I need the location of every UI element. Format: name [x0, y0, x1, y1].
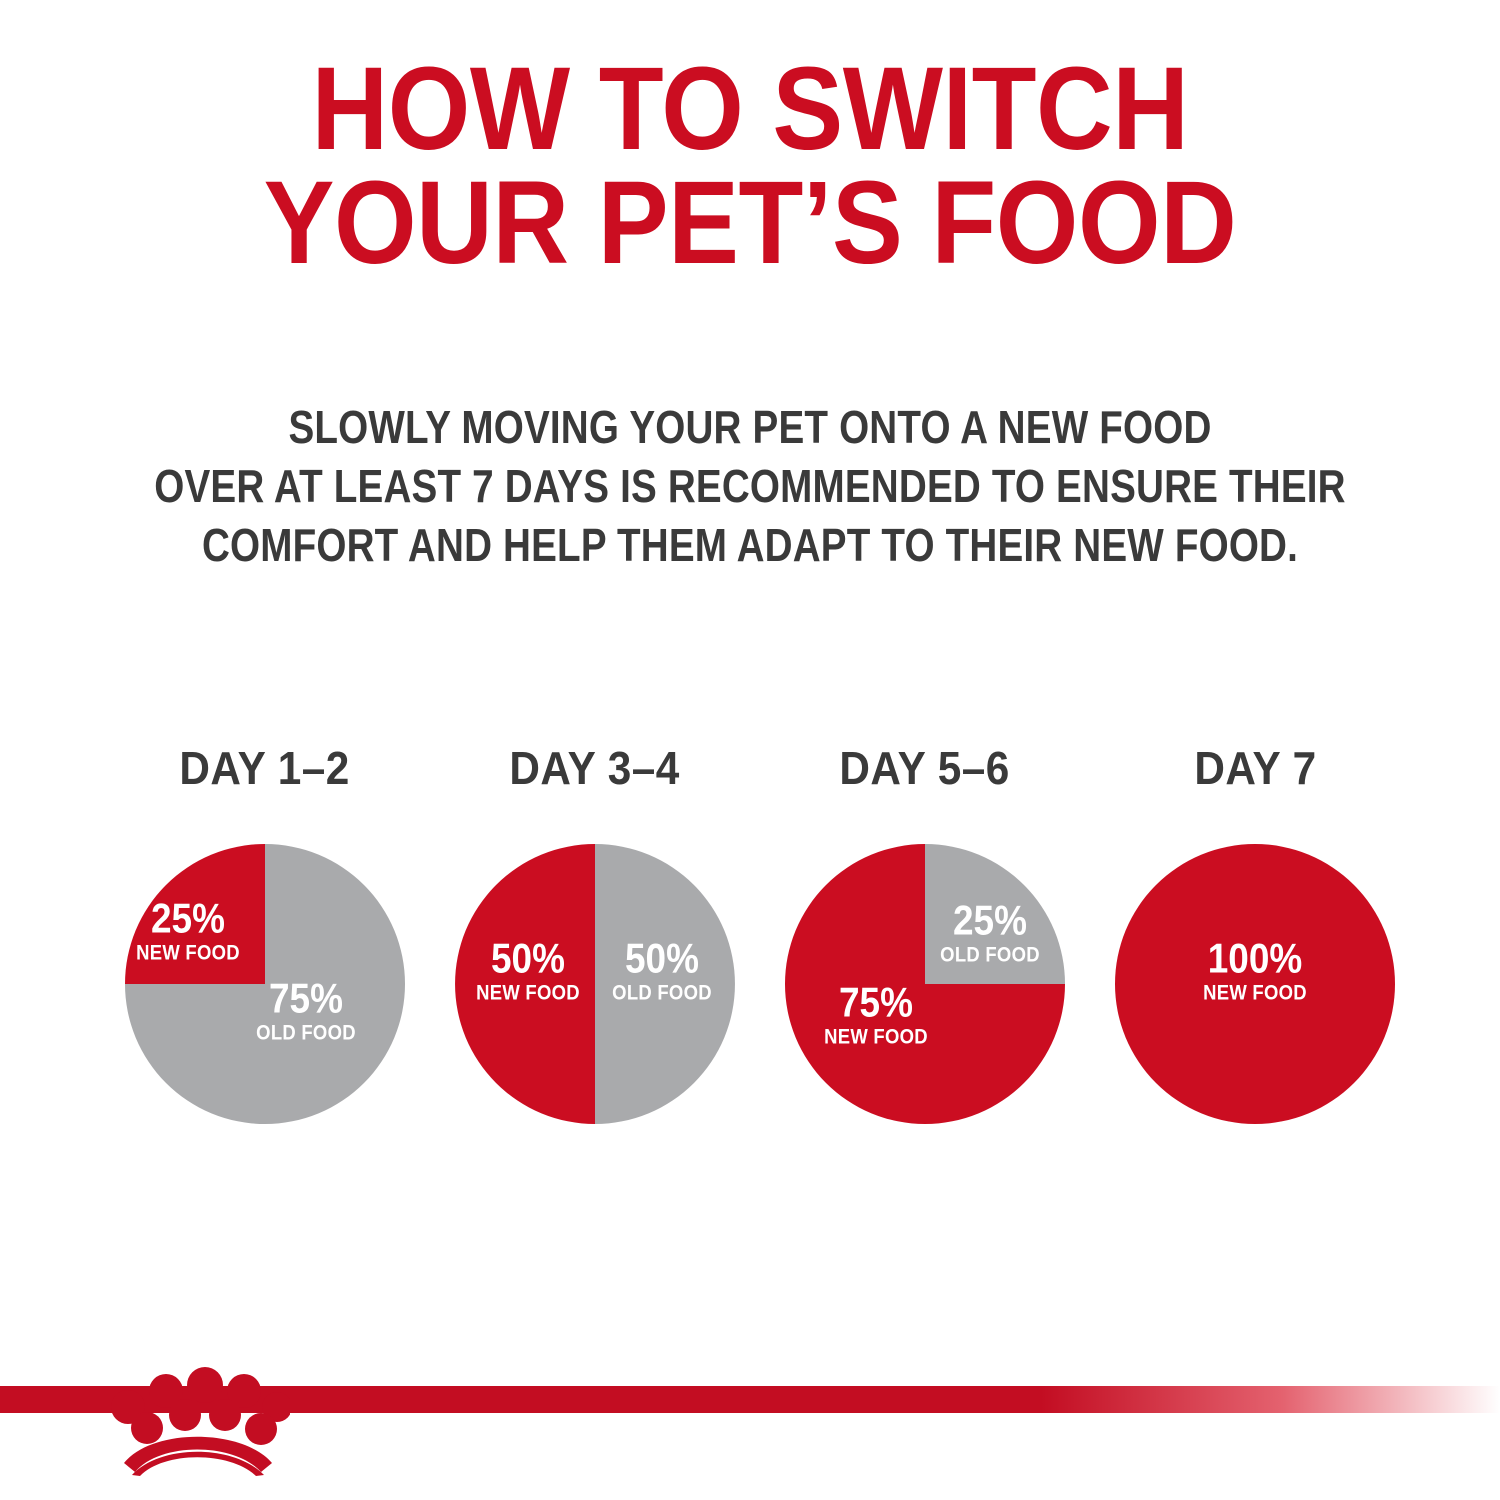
infographic-page: HOW TO SWITCH YOUR PET’S FOOD SLOWLY MOV… [0, 0, 1500, 1500]
title-line-2: YOUR PET’S FOOD [75, 166, 1425, 280]
page-subtitle: SLOWLY MOVING YOUR PET ONTO A NEW FOOD O… [0, 398, 1500, 575]
pie-chart-day-3-4: DAY 3–450%NEW FOOD50%OLD FOOD [440, 745, 750, 1125]
red-rule-right-icon [292, 1386, 1500, 1413]
subtitle-line-3: COMFORT AND HELP THEM ADAPT TO THEIR NEW… [120, 516, 1380, 575]
pie-chart-day-7: DAY 7100%NEW FOOD [1100, 745, 1410, 1125]
pie-chart-row: DAY 1–225%NEW FOOD75%OLD FOODDAY 3–450%N… [110, 745, 1410, 1165]
pie-graphic-day-3-4: 50%NEW FOOD50%OLD FOOD [454, 843, 736, 1125]
pie-graphic-day-5-6: 25%OLD FOOD75%NEW FOOD [784, 843, 1066, 1125]
royal-canin-crown-icon [104, 1358, 290, 1476]
subtitle-line-1: SLOWLY MOVING YOUR PET ONTO A NEW FOOD [120, 398, 1380, 457]
day-label-day-3-4: DAY 3–4 [510, 745, 680, 795]
day-label-day-5-6: DAY 5–6 [840, 745, 1010, 795]
pie-slice-day-3-4-old-food [595, 844, 735, 1124]
pie-slice-day-5-6-old-food [925, 844, 1065, 984]
pie-graphic-day-1-2: 25%NEW FOOD75%OLD FOOD [124, 843, 406, 1125]
pie-chart-day-5-6: DAY 5–625%OLD FOOD75%NEW FOOD [770, 745, 1080, 1125]
day-label-day-7: DAY 7 [1194, 745, 1316, 795]
pie-slice-day-3-4-new-food [455, 844, 595, 1124]
pie-graphic-day-7: 100%NEW FOOD [1114, 843, 1396, 1125]
pie-chart-day-1-2: DAY 1–225%NEW FOOD75%OLD FOOD [110, 745, 420, 1125]
subtitle-line-2: OVER AT LEAST 7 DAYS IS RECOMMENDED TO E… [120, 457, 1380, 516]
pie-slice-day-7-new-food [1115, 844, 1395, 1124]
footer [0, 1372, 1500, 1500]
pie-slice-day-1-2-new-food [125, 844, 265, 984]
title-line-1: HOW TO SWITCH [75, 52, 1425, 166]
day-label-day-1-2: DAY 1–2 [180, 745, 350, 795]
page-title: HOW TO SWITCH YOUR PET’S FOOD [0, 52, 1500, 281]
